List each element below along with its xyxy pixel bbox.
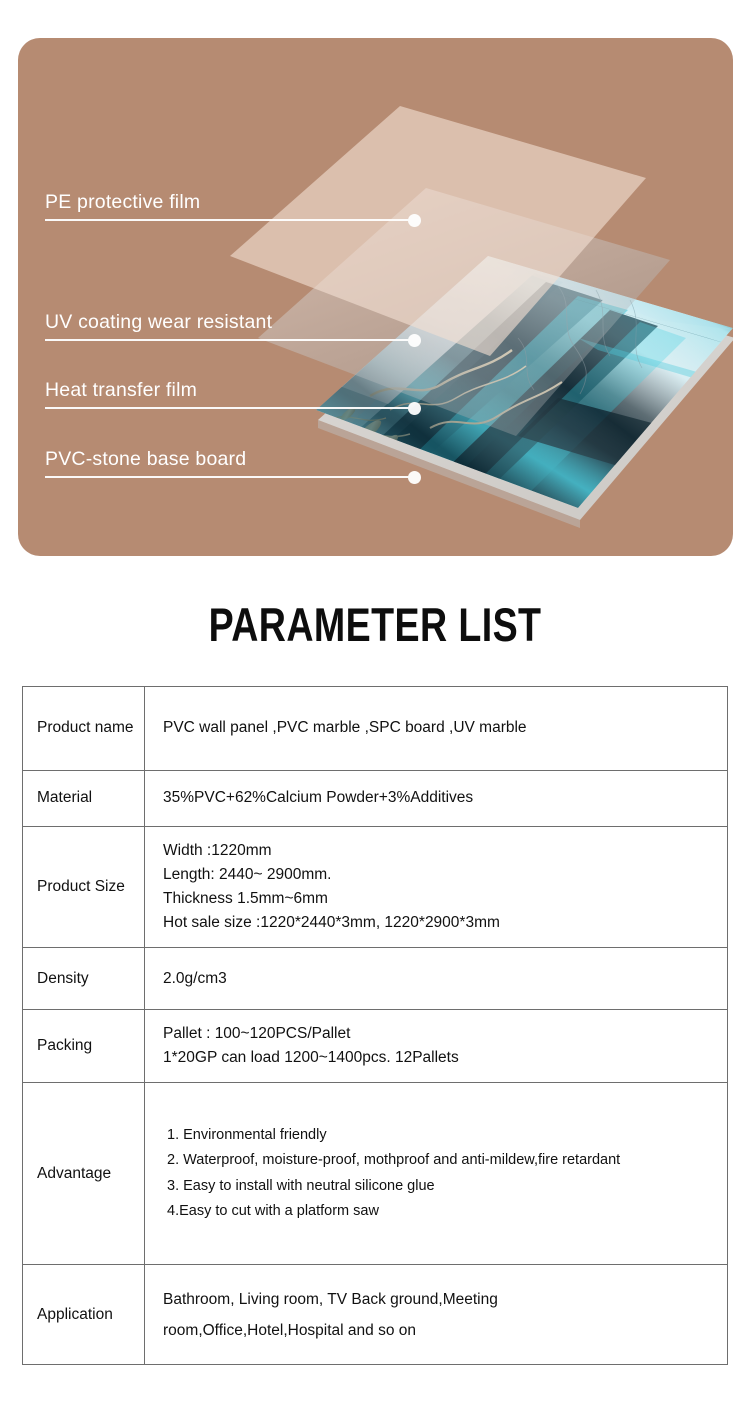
row-value-product-name: PVC wall panel ,PVC marble ,SPC board ,U… xyxy=(145,687,728,771)
parameter-table: Product name PVC wall panel ,PVC marble … xyxy=(22,686,728,1365)
list-item: 4.Easy to cut with a platform saw xyxy=(167,1199,717,1224)
row-value-advantage: 1. Environmental friendly 2. Waterproof,… xyxy=(145,1083,728,1265)
row-key-material: Material xyxy=(23,771,145,827)
row-value-material: 35%PVC+62%Calcium Powder+3%Additives xyxy=(145,771,728,827)
table-row: Material 35%PVC+62%Calcium Powder+3%Addi… xyxy=(23,771,728,827)
callout-uv-coating: UV coating wear resistant xyxy=(45,310,415,341)
callout-dot-icon xyxy=(408,334,421,347)
callout-label-text: Heat transfer film xyxy=(45,378,415,407)
row-value-packing: Pallet : 100~120PCS/Pallet 1*20GP can lo… xyxy=(145,1010,728,1083)
callout-label-text: UV coating wear resistant xyxy=(45,310,415,339)
callout-leader-line xyxy=(45,339,415,341)
list-item: 1. Environmental friendly xyxy=(167,1123,717,1148)
list-item: 3. Easy to install with neutral silicone… xyxy=(167,1174,717,1199)
table-row: Product Size Width :1220mm Length: 2440~… xyxy=(23,827,728,948)
list-item: 2. Waterproof, moisture-proof, mothproof… xyxy=(167,1148,717,1173)
layer-callout-labels: PE protective film UV coating wear resis… xyxy=(18,38,733,556)
callout-label-text: PE protective film xyxy=(45,190,415,219)
row-value-density: 2.0g/cm3 xyxy=(145,948,728,1010)
row-key-advantage: Advantage xyxy=(23,1083,145,1265)
page-title: PARAMETER LIST xyxy=(75,601,675,648)
callout-leader-line xyxy=(45,219,415,221)
table-row: Packing Pallet : 100~120PCS/Pallet 1*20G… xyxy=(23,1010,728,1083)
callout-dot-icon xyxy=(408,471,421,484)
callout-leader-line xyxy=(45,407,415,409)
callout-heat-transfer-film: Heat transfer film xyxy=(45,378,415,409)
layer-structure-diagram: PE protective film UV coating wear resis… xyxy=(18,38,733,556)
row-key-density: Density xyxy=(23,948,145,1010)
callout-pvc-stone-base-board: PVC-stone base board xyxy=(45,447,415,478)
row-key-packing: Packing xyxy=(23,1010,145,1083)
callout-label-text: PVC-stone base board xyxy=(45,447,415,476)
table-row: Advantage 1. Environmental friendly 2. W… xyxy=(23,1083,728,1265)
advantage-list: 1. Environmental friendly 2. Waterproof,… xyxy=(167,1123,717,1225)
table-row: Product name PVC wall panel ,PVC marble … xyxy=(23,687,728,771)
row-key-product-size: Product Size xyxy=(23,827,145,948)
callout-dot-icon xyxy=(408,402,421,415)
table-row: Density 2.0g/cm3 xyxy=(23,948,728,1010)
product-spec-page: PE protective film UV coating wear resis… xyxy=(0,0,750,1401)
row-value-application: Bathroom, Living room, TV Back ground,Me… xyxy=(145,1265,728,1365)
row-key-product-name: Product name xyxy=(23,687,145,771)
callout-dot-icon xyxy=(408,214,421,227)
table-row: Application Bathroom, Living room, TV Ba… xyxy=(23,1265,728,1365)
row-value-product-size: Width :1220mm Length: 2440~ 2900mm. Thic… xyxy=(145,827,728,948)
callout-pe-protective-film: PE protective film xyxy=(45,190,415,221)
callout-leader-line xyxy=(45,476,415,478)
row-key-application: Application xyxy=(23,1265,145,1365)
